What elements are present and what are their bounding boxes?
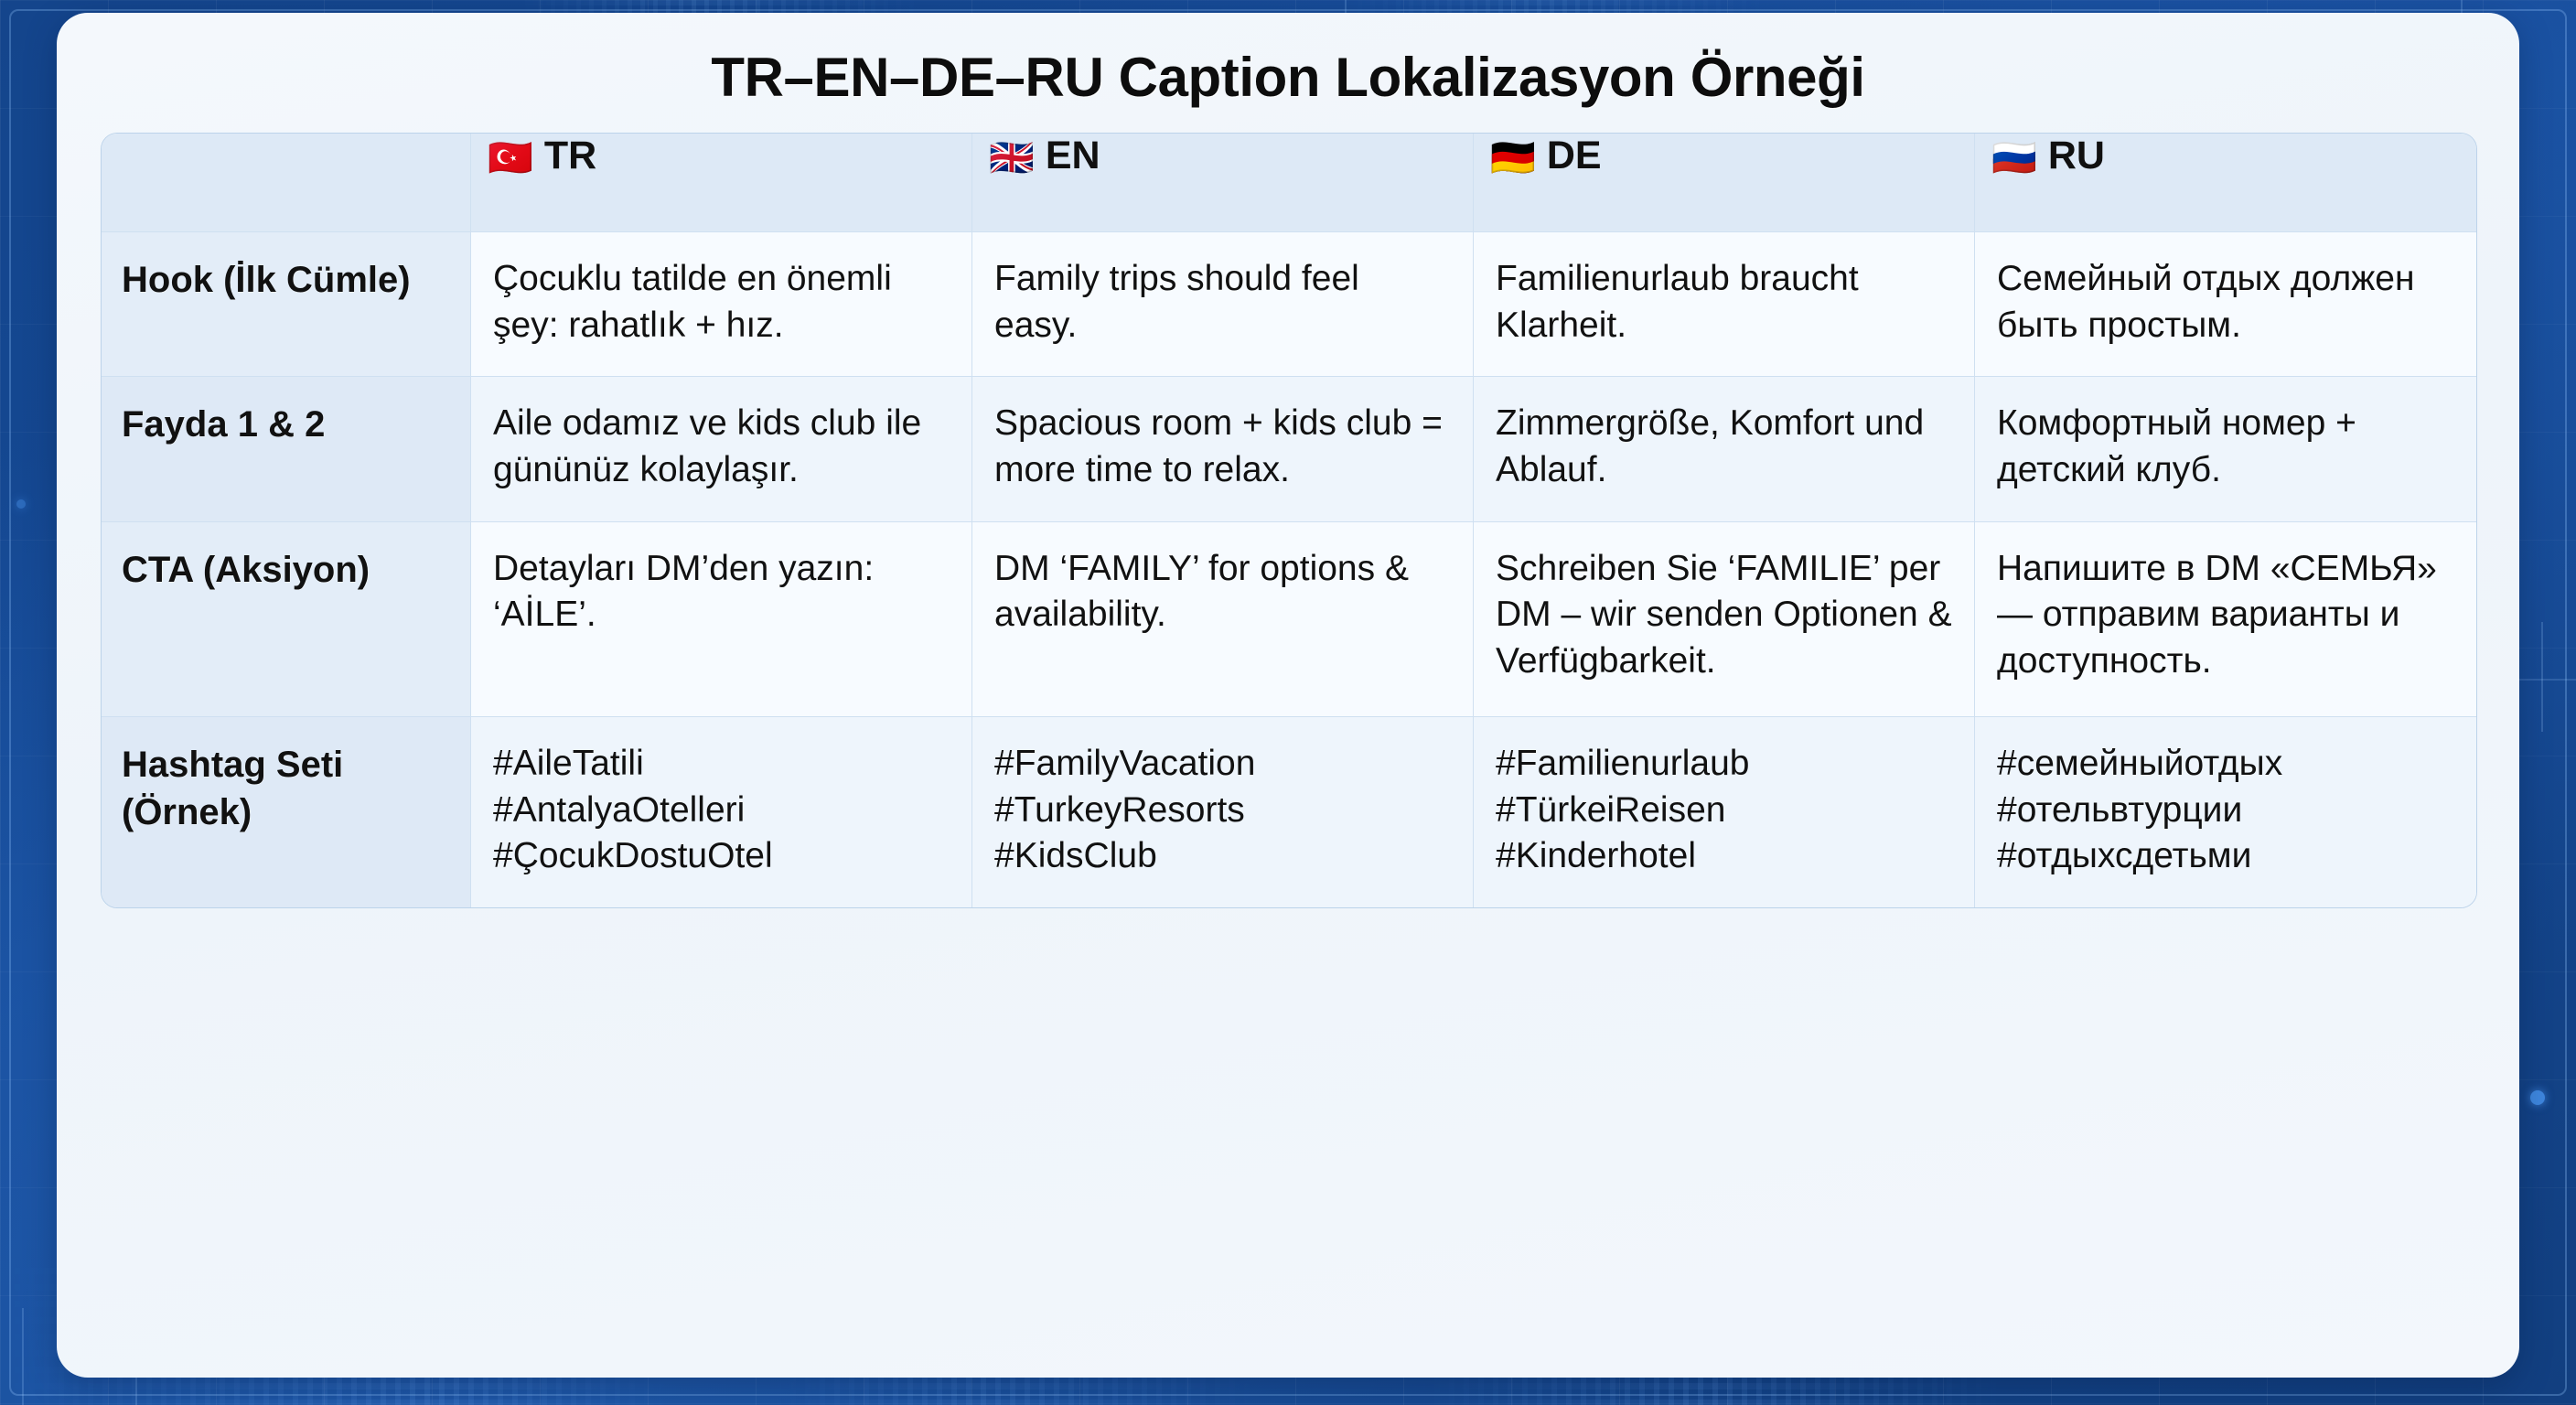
row-label-cta: CTA (Aksiyon) <box>102 522 471 717</box>
row-label-hook: Hook (İlk Cümle) <box>102 232 471 377</box>
flag-russia-icon: 🇷🇺 <box>1991 137 2037 179</box>
flag-turkey-icon: 🇹🇷 <box>488 137 533 179</box>
column-header-de: 🇩🇪DE <box>1474 134 1975 232</box>
column-header-en: 🇬🇧EN <box>972 134 1474 232</box>
cell-cta-en: DM ‘FAMILY’ for options & availability. <box>972 522 1474 717</box>
table-header: 🇹🇷TR 🇬🇧EN 🇩🇪DE 🇷🇺RU <box>102 134 2476 232</box>
column-header-tr-label: TR <box>544 134 596 177</box>
table-row: Hook (İlk Cümle) Çocuklu tatilde en önem… <box>102 232 2476 377</box>
row-label-fayda: Fayda 1 & 2 <box>102 377 471 521</box>
background-accent-line-5 <box>22 1308 24 1405</box>
flag-germany-icon: 🇩🇪 <box>1490 137 1536 179</box>
page-title: TR–EN–DE–RU Caption Lokalizasyon Örneği <box>101 13 2475 133</box>
column-header-en-label: EN <box>1046 134 1100 177</box>
cell-fayda-ru: Комфортный номер + детский клуб. <box>1975 377 2476 521</box>
content-card: TR–EN–DE–RU Caption Lokalizasyon Örneği … <box>57 13 2519 1378</box>
row-label-hashtag: Hashtag Seti (Örnek) <box>102 717 471 907</box>
table-row: Fayda 1 & 2 Aile odamız ve kids club ile… <box>102 377 2476 521</box>
column-header-tr: 🇹🇷TR <box>471 134 972 232</box>
background-accent-line-3 <box>2541 622 2543 732</box>
flag-uk-icon: 🇬🇧 <box>989 137 1035 179</box>
cell-hook-tr: Çocuklu tatilde en önemli şey: rahatlık … <box>471 232 972 377</box>
column-header-ru-label: RU <box>2048 134 2105 177</box>
cell-hashtag-en: #FamilyVacation#TurkeyResorts#KidsClub <box>972 717 1474 907</box>
cell-hashtag-ru: #семейныйотдых#отельвтурции#отдыхсдетьми <box>1975 717 2476 907</box>
cell-hook-ru: Семейный отдых должен быть простым. <box>1975 232 2476 377</box>
table-row: Hashtag Seti (Örnek) #AileTatili#Antalya… <box>102 717 2476 907</box>
cell-fayda-en: Spacious room + kids club = more time to… <box>972 377 1474 521</box>
table-header-row: 🇹🇷TR 🇬🇧EN 🇩🇪DE 🇷🇺RU <box>102 134 2476 232</box>
cell-fayda-de: Zimmergröße, Komfort und Ablauf. <box>1474 377 1975 521</box>
cell-hook-en: Family trips should feel easy. <box>972 232 1474 377</box>
cell-fayda-tr: Aile odamız ve kids club ile gününüz kol… <box>471 377 972 521</box>
column-header-ru: 🇷🇺RU <box>1975 134 2476 232</box>
table-row: CTA (Aksiyon) Detayları DM’den yazın: ‘A… <box>102 522 2476 717</box>
background-dot-icon <box>2530 1090 2545 1105</box>
table-body: Hook (İlk Cümle) Çocuklu tatilde en önem… <box>102 232 2476 907</box>
cell-hook-de: Familienurlaub braucht Klarheit. <box>1474 232 1975 377</box>
cell-cta-ru: Напишите в DM «СЕМЬЯ» — отправим вариант… <box>1975 522 2476 717</box>
column-header-section <box>102 134 471 232</box>
cell-hashtag-de: #Familienurlaub#TürkeiReisen#Kinderhotel <box>1474 717 1975 907</box>
cell-cta-tr: Detayları DM’den yazın: ‘AİLE’. <box>471 522 972 717</box>
background-dot-icon-2 <box>16 499 26 509</box>
column-header-de-label: DE <box>1547 134 1602 177</box>
cell-cta-de: Schreiben Sie ‘FAMILIE’ per DM – wir sen… <box>1474 522 1975 717</box>
cell-hashtag-tr: #AileTatili#AntalyaOtelleri#ÇocukDostuOt… <box>471 717 972 907</box>
localization-table: 🇹🇷TR 🇬🇧EN 🇩🇪DE 🇷🇺RU Hook (İlk Cümle) Çoc… <box>101 133 2477 908</box>
